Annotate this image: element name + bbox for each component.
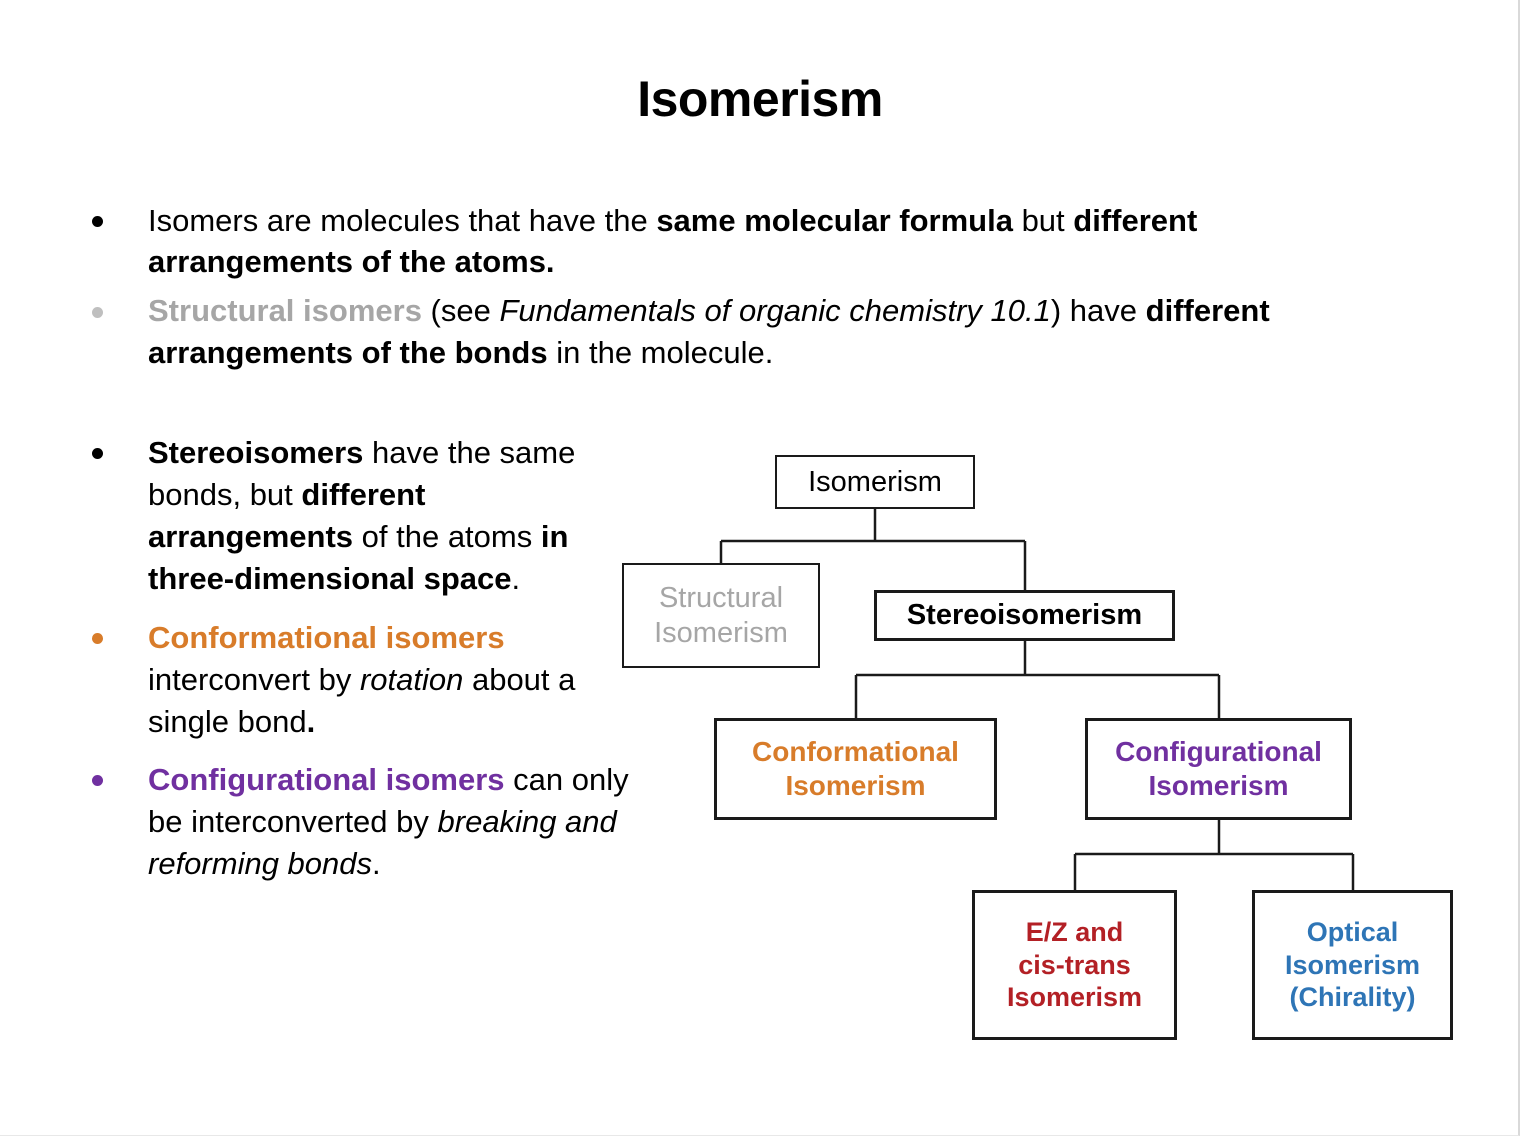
node-label-line3: (Chirality) — [1289, 982, 1415, 1012]
node-label-line3: Isomerism — [1007, 982, 1142, 1012]
node-label: Stereoisomerism — [907, 598, 1142, 633]
bullet-text: Structural isomers (see Fundamentals of … — [148, 293, 1270, 369]
node-label: ConformationalIsomerism — [752, 735, 959, 802]
node-label-line1: Configurational — [1115, 736, 1322, 767]
node-label: StructuralIsomerism — [654, 581, 788, 651]
text-run-purple: Configurational isomers — [148, 762, 505, 797]
node-label-line1: Optical — [1307, 917, 1399, 947]
text-run: (see — [422, 293, 500, 328]
node-label-line1: Conformational — [752, 736, 959, 767]
bullet-configurational-isomers: Configurational isomers can only be inte… — [78, 759, 638, 885]
text-run: ) have — [1051, 293, 1146, 328]
text-run: of the atoms — [353, 519, 541, 554]
text-run-gray: Structural isomers — [148, 293, 422, 328]
text-run: but — [1013, 203, 1073, 238]
text-run-italic: Fundamentals of organic chemistry 10.1 — [499, 293, 1050, 328]
bullet-text: Isomers are molecules that have the same… — [148, 203, 1197, 279]
node-isomerism[interactable]: Isomerism — [775, 455, 975, 509]
text-run-bold: same molecular formula — [656, 203, 1013, 238]
node-label-line2: cis-trans — [1018, 950, 1131, 980]
node-label-line1: E/Z and — [1026, 917, 1124, 947]
text-run: in the molecule. — [548, 335, 774, 370]
node-conformational-isomerism[interactable]: ConformationalIsomerism — [714, 718, 997, 820]
page-title: Isomerism — [0, 70, 1520, 128]
node-label: Isomerism — [808, 465, 942, 500]
bullet-marker-icon — [92, 216, 103, 227]
bullet-stereoisomers: Stereoisomers have the same bonds, but d… — [78, 432, 638, 601]
bullet-isomers-definition: Isomers are molecules that have the same… — [78, 200, 1378, 282]
node-label-line2: Isomerism — [654, 617, 788, 649]
text-run-orange: Conformational isomers — [148, 620, 505, 655]
isomerism-tree-diagram: Isomerism StructuralIsomerism Stereoisom… — [600, 440, 1500, 1070]
node-label: E/Z andcis-transIsomerism — [1007, 916, 1142, 1013]
bullet-text: Conformational isomers interconvert by r… — [148, 620, 575, 739]
bullet-marker-icon — [92, 307, 103, 318]
bullet-marker-icon — [92, 633, 103, 644]
node-label-line2: Isomerism — [785, 770, 925, 801]
node-ez-cis-trans-isomerism[interactable]: E/Z andcis-transIsomerism — [972, 890, 1177, 1040]
bullet-structural-isomers: Structural isomers (see Fundamentals of … — [78, 290, 1378, 372]
bullet-conformational-isomers: Conformational isomers interconvert by r… — [78, 617, 638, 743]
node-stereoisomerism[interactable]: Stereoisomerism — [874, 590, 1175, 641]
node-structural-isomerism[interactable]: StructuralIsomerism — [622, 563, 820, 668]
bullet-text: Configurational isomers can only be inte… — [148, 762, 629, 881]
bullet-marker-icon — [92, 775, 103, 786]
bullet-marker-icon — [92, 448, 103, 459]
text-run: interconvert by — [148, 662, 360, 697]
node-label-line2: Isomerism — [1285, 950, 1420, 980]
node-label: ConfigurationalIsomerism — [1115, 735, 1322, 802]
bullet-list-upper: Isomers are molecules that have the same… — [78, 200, 1378, 381]
text-run-bold: . — [307, 704, 316, 739]
node-optical-isomerism[interactable]: OpticalIsomerism(Chirality) — [1252, 890, 1453, 1040]
node-label-line1: Structural — [659, 582, 783, 614]
bullet-text: Stereoisomers have the same bonds, but d… — [148, 435, 575, 596]
text-run: . — [372, 846, 381, 881]
node-label: OpticalIsomerism(Chirality) — [1285, 916, 1420, 1013]
slide-canvas: Isomerism Isomers are molecules that hav… — [0, 0, 1520, 1136]
node-label-line2: Isomerism — [1148, 770, 1288, 801]
bullet-list-lower: Stereoisomers have the same bonds, but d… — [78, 432, 638, 902]
text-run-bold: Stereoisomers — [148, 435, 363, 470]
text-run: Isomers are molecules that have the — [148, 203, 656, 238]
node-configurational-isomerism[interactable]: ConfigurationalIsomerism — [1085, 718, 1352, 820]
text-run: . — [512, 561, 521, 596]
text-run-italic: rotation — [360, 662, 463, 697]
